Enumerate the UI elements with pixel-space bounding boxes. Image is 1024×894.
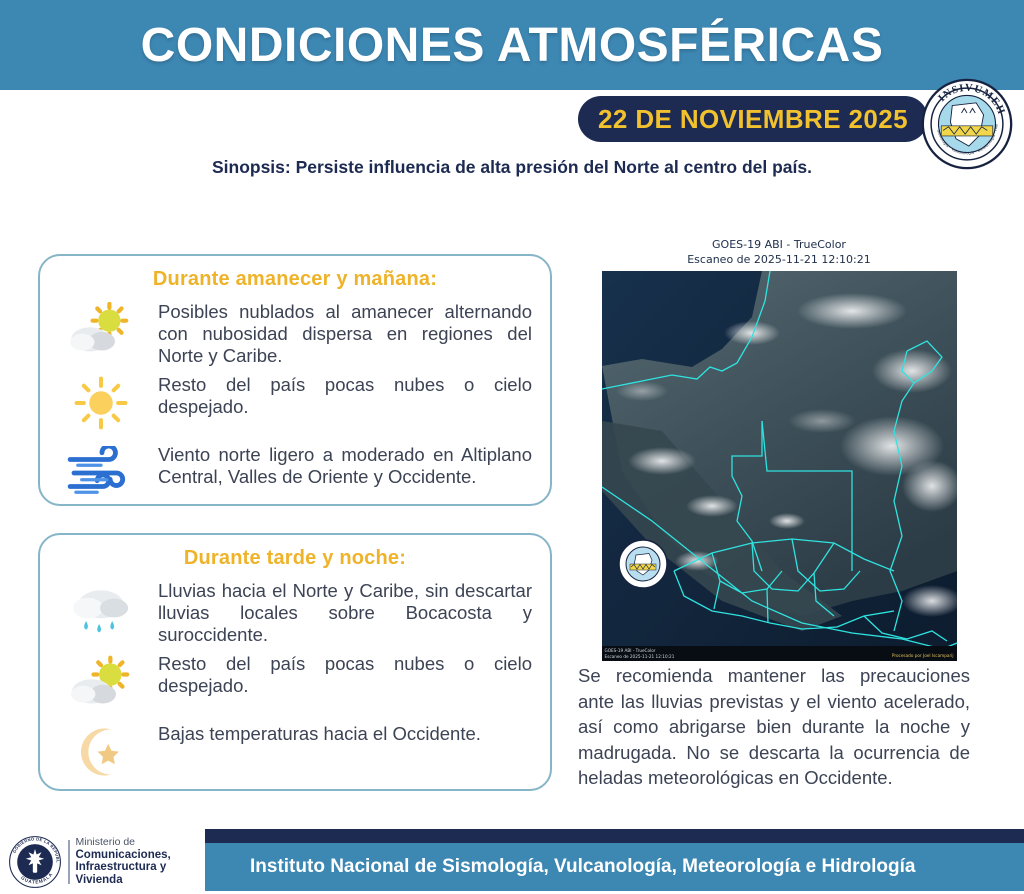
header-band: CONDICIONES ATMOSFÉRICAS xyxy=(0,0,1024,90)
list-item: Bajas temperaturas hacia el Occidente. xyxy=(58,717,532,787)
list-item: Lluvias hacia el Norte y Caribe, sin des… xyxy=(58,574,532,647)
sinopsis-text: Sinopsis: Persiste influencia de alta pr… xyxy=(0,157,1024,178)
card-evening: Durante tarde y noche: Lluvias hacia el … xyxy=(38,533,552,791)
ministry-line-3: Infraestructura y xyxy=(76,861,171,874)
ministry-branding: GOBIERNO DE LA REPÚBLICA GUATEMALA Minis… xyxy=(8,833,203,891)
insivumeh-logo-small xyxy=(618,539,668,589)
satellite-caption-line-2: Escaneo de 2025-11-21 12:10:21 xyxy=(575,253,983,267)
wind-icon xyxy=(58,440,144,506)
list-item-text: Lluvias hacia el Norte y Caribe, sin des… xyxy=(158,576,532,645)
ministry-line-4: Vivienda xyxy=(76,874,171,887)
list-item: Resto del país pocas nubes o cielo despe… xyxy=(58,647,532,717)
satellite-watermark-right: Procesado por Joel Iscamparij xyxy=(892,653,954,659)
card-evening-title: Durante tarde y noche: xyxy=(58,547,532,570)
list-item: Viento norte ligero a moderado en Altipl… xyxy=(58,438,532,508)
ministry-name: Ministerio de Comunicaciones, Infraestru… xyxy=(76,837,171,887)
list-item-text: Bajas temperaturas hacia el Occidente. xyxy=(158,719,532,745)
list-item: Resto del país pocas nubes o cielo despe… xyxy=(58,368,532,438)
advisory-text: Se recomienda mantener las precauciones … xyxy=(578,663,970,791)
footer-top-strip xyxy=(205,829,1024,843)
insivumeh-logo: INSIVUMEH Sismología · Vulcanología · Me… xyxy=(921,78,1013,170)
list-item-text: Posibles nublados al amanecer alternando… xyxy=(158,297,532,366)
card-evening-rows: Lluvias hacia el Norte y Caribe, sin des… xyxy=(58,574,532,787)
page-title: CONDICIONES ATMOSFÉRICAS xyxy=(141,18,884,73)
satellite-watermark-left: GOES-19 ABI - TrueColor Escaneo de 2025-… xyxy=(605,648,675,659)
list-item: Posibles nublados al amanecer alternando… xyxy=(58,295,532,368)
crescent-moon-star-icon xyxy=(58,719,144,785)
footer-bar: Instituto Nacional de Sismología, Vulcan… xyxy=(205,843,1024,891)
list-item-text: Viento norte ligero a moderado en Altipl… xyxy=(158,440,532,488)
sun-behind-cloud-icon xyxy=(58,649,144,715)
list-item-text: Resto del país pocas nubes o cielo despe… xyxy=(158,370,532,418)
list-item-text: Resto del país pocas nubes o cielo despe… xyxy=(158,649,532,697)
satellite-image: GOES-19 ABI - TrueColor Escaneo de 2025-… xyxy=(602,271,957,661)
footer: Instituto Nacional de Sismología, Vulcan… xyxy=(0,829,1024,891)
sun-behind-cloud-icon xyxy=(58,297,144,363)
satellite-panel: GOES-19 ABI - TrueColor Escaneo de 2025-… xyxy=(575,238,983,661)
gobierno-de-guatemala-seal: GOBIERNO DE LA REPÚBLICA GUATEMALA xyxy=(8,835,62,889)
satellite-caption-line-1: GOES-19 ABI - TrueColor xyxy=(575,238,983,252)
card-morning-rows: Posibles nublados al amanecer alternando… xyxy=(58,295,532,508)
date-badge: 22 DE NOVIEMBRE 2025 xyxy=(578,96,928,142)
ministry-line-2: Comunicaciones, xyxy=(76,849,171,862)
card-morning-title: Durante amanecer y mañana: xyxy=(58,268,532,291)
footer-divider xyxy=(68,840,70,884)
footer-institute-label: Instituto Nacional de Sismología, Vulcan… xyxy=(250,856,915,878)
sun-icon xyxy=(58,370,144,436)
date-badge-label: 22 DE NOVIEMBRE 2025 xyxy=(598,104,908,135)
ministry-line-1: Ministerio de xyxy=(76,837,171,849)
card-morning: Durante amanecer y mañana: Posibles xyxy=(38,254,552,506)
rain-cloud-icon xyxy=(58,576,144,642)
